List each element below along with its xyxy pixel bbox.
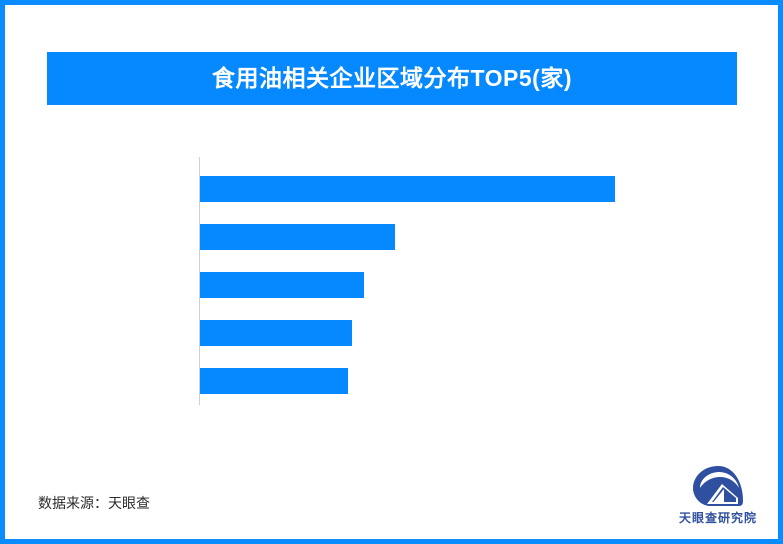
infographic-page: 食用油相关企业区域分布TOP5(家) 广东省 山东省 河北省 湖南省 福建省 数… xyxy=(0,0,783,544)
bar-4 xyxy=(200,368,348,394)
bar-3 xyxy=(200,320,352,346)
brand-logo-text: 天眼查研究院 xyxy=(679,509,757,526)
brand-logo: 天眼查研究院 xyxy=(670,465,766,537)
bar-2 xyxy=(200,272,364,298)
bar-chart: 广东省 山东省 河北省 湖南省 福建省 xyxy=(5,5,778,539)
data-source-note: 数据来源：天眼查 xyxy=(38,493,150,513)
bar-0 xyxy=(200,176,615,202)
tianyancha-eye-icon xyxy=(692,465,744,507)
bar-1 xyxy=(200,224,395,250)
